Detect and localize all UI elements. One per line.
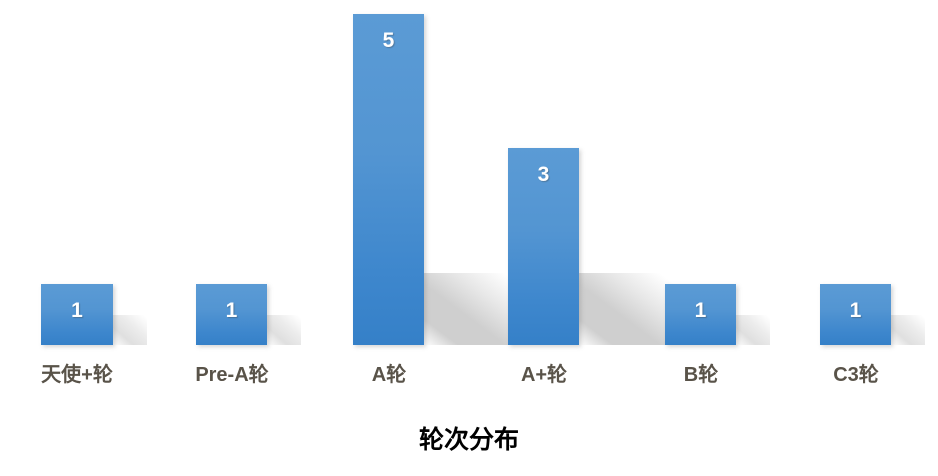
bar-shadow xyxy=(267,315,301,345)
bar-value-label: 1 xyxy=(665,300,736,321)
category-label-Pre-A轮: Pre-A轮 xyxy=(172,363,292,387)
bar-group: 1 xyxy=(41,284,113,345)
bar-group: 5 xyxy=(353,14,424,345)
plot-area: 115311 xyxy=(0,0,938,345)
bar-天使+轮[interactable]: 1 xyxy=(41,284,113,345)
bar-shadow xyxy=(424,273,520,345)
bar-value-label: 3 xyxy=(508,164,579,185)
bar-shadow xyxy=(113,315,147,345)
bar-Pre-A轮[interactable]: 1 xyxy=(196,284,267,345)
bar-shadow xyxy=(579,273,675,345)
category-label-A+轮: A+轮 xyxy=(484,363,604,387)
chart-title: 轮次分布 xyxy=(0,425,938,455)
bar-chart: 115311 轮次分布 天使+轮Pre-A轮A轮A+轮B轮C3轮 xyxy=(0,0,938,476)
bar-group: 1 xyxy=(196,284,267,345)
bar-C3轮[interactable]: 1 xyxy=(820,284,891,345)
category-label-B轮: B轮 xyxy=(641,363,761,387)
bar-A轮[interactable]: 5 xyxy=(353,14,424,345)
bar-group: 3 xyxy=(508,148,579,345)
bar-value-label: 1 xyxy=(196,300,267,321)
category-label-A轮: A轮 xyxy=(329,363,449,387)
bar-shadow xyxy=(736,315,770,345)
bar-value-label: 1 xyxy=(41,300,113,321)
bar-group: 1 xyxy=(820,284,891,345)
bar-shadow xyxy=(891,315,925,345)
category-label-天使+轮: 天使+轮 xyxy=(17,363,137,387)
bar-group: 1 xyxy=(665,284,736,345)
bar-value-label: 1 xyxy=(820,300,891,321)
bar-B轮[interactable]: 1 xyxy=(665,284,736,345)
bar-A+轮[interactable]: 3 xyxy=(508,148,579,345)
category-label-C3轮: C3轮 xyxy=(796,363,916,387)
bar-value-label: 5 xyxy=(353,30,424,51)
